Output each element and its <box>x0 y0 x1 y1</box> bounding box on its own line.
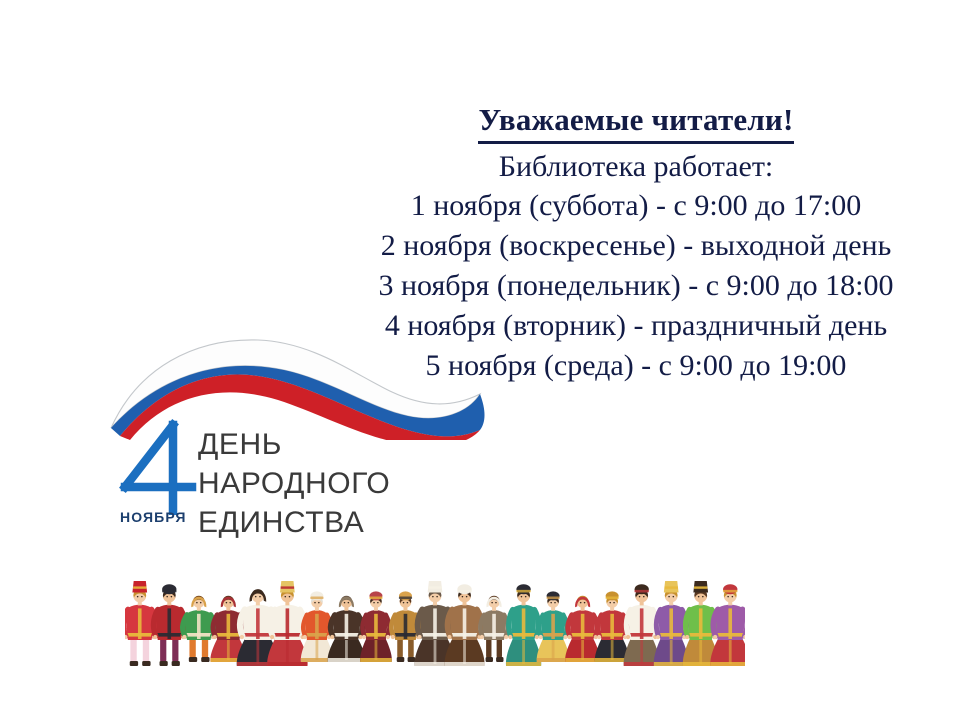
poster-canvas: Уважаемые читатели! Библиотека работает:… <box>0 0 960 720</box>
emblem-lockup: ноября ДЕНЬ НАРОДНОГО ЕДИНСТВА <box>118 425 518 545</box>
person-figure <box>328 596 366 662</box>
emblem-month-badge: ноября <box>120 509 187 525</box>
emblem-word-narodnogo: НАРОДНОГО <box>198 464 390 503</box>
folk-costumes-illustration <box>125 560 745 672</box>
emblem-word-edinstva: ЕДИНСТВА <box>198 503 390 542</box>
numeral-four-icon <box>118 419 198 515</box>
schedule-line-2: 2 ноября (воскресенье) - выходной день <box>330 226 942 266</box>
person-figure <box>565 596 600 662</box>
person-figure <box>710 584 745 666</box>
unity-day-emblem: ноября ДЕНЬ НАРОДНОГО ЕДИНСТВА <box>108 330 528 555</box>
people-row-icon <box>125 560 745 672</box>
person-figure <box>182 596 215 662</box>
announcement-subtitle: Библиотека работает: <box>330 147 942 186</box>
person-figure <box>480 596 509 662</box>
schedule-line-1: 1 ноября (суббота) - с 9:00 до 17:00 <box>330 186 942 226</box>
emblem-words: ДЕНЬ НАРОДНОГО ЕДИНСТВА <box>198 425 390 542</box>
emblem-word-den: ДЕНЬ <box>198 425 390 464</box>
emblem-date-column: ноября <box>118 425 198 543</box>
person-figure <box>506 584 541 666</box>
announcement-title: Уважаемые читатели! <box>478 100 793 144</box>
person-figure <box>537 591 570 662</box>
schedule-line-3: 3 ноября (понедельник) - с 9:00 до 18:00 <box>330 266 942 306</box>
